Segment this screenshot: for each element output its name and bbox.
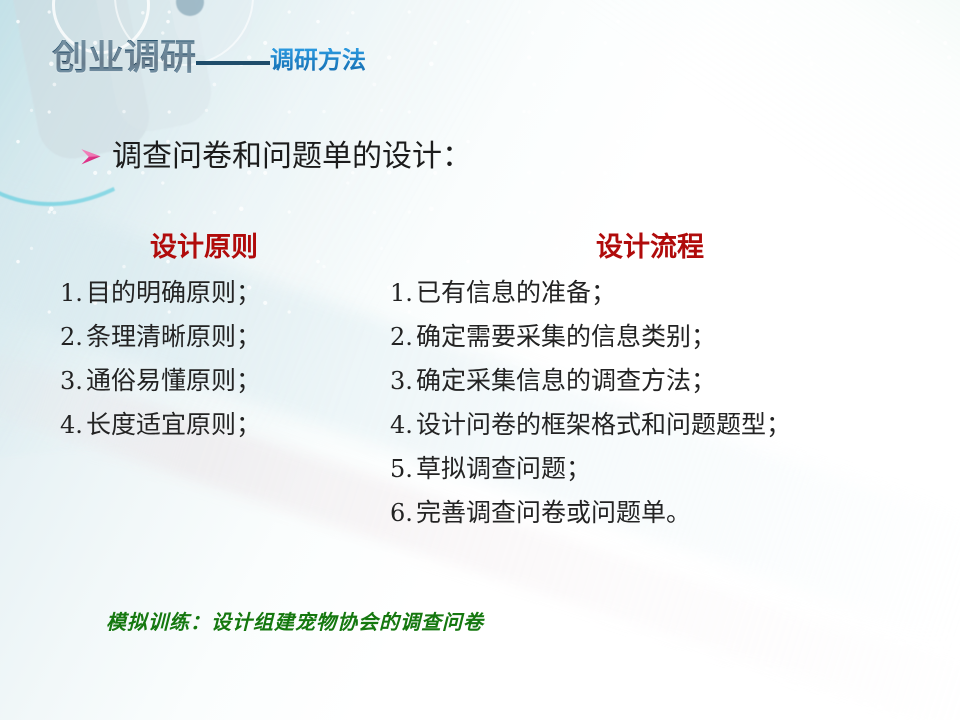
list-item-label: 已有信息的准备； bbox=[416, 280, 616, 305]
list-item: 2. 确定需要采集的信息类别； bbox=[390, 324, 930, 349]
bullet-heading-text: 调查问卷和问题单的设计： bbox=[112, 140, 472, 173]
list-item: 3. 确定采集信息的调查方法； bbox=[390, 368, 930, 393]
list-item-label: 草拟调查问题； bbox=[416, 456, 591, 481]
list-item: 4. 设计问卷的框架格式和问题题型； bbox=[390, 412, 930, 437]
list-item-number: 2. bbox=[60, 325, 86, 349]
list-item-number: 6. bbox=[390, 501, 416, 525]
list-item-number: 2. bbox=[390, 325, 416, 349]
list-item-label: 完善调查问卷或问题单。 bbox=[416, 500, 691, 525]
column-design-principles: 设计原则 1. 目的明确原则； 2. 条理清晰原则； 3. 通俗易懂原则； 4.… bbox=[60, 234, 380, 456]
slide-canvas: 创业调研 调研方法 调查问卷和问题单的设计： 设计原则 1. 目的明确原则； bbox=[0, 0, 960, 720]
list-item-label: 通俗易懂原则； bbox=[86, 368, 261, 393]
list-item-number: 1. bbox=[60, 281, 86, 305]
list-design-process: 1. 已有信息的准备； 2. 确定需要采集的信息类别； 3. 确定采集信息的调查… bbox=[390, 280, 930, 525]
footer-practice-note: 模拟训练：设计组建宠物协会的调查问卷 bbox=[106, 612, 484, 632]
list-item: 6. 完善调查问卷或问题单。 bbox=[390, 500, 930, 525]
list-item-label: 条理清晰原则； bbox=[86, 324, 261, 349]
list-item-number: 3. bbox=[60, 369, 86, 393]
column-heading-design-process: 设计流程 bbox=[390, 234, 930, 261]
list-item-number: 4. bbox=[390, 413, 416, 437]
list-item: 1. 目的明确原则； bbox=[60, 280, 380, 305]
slide-title-main: 创业调研 bbox=[52, 40, 196, 78]
list-item-number: 4. bbox=[60, 413, 86, 437]
list-item-label: 确定采集信息的调查方法； bbox=[416, 368, 716, 393]
list-item-number: 5. bbox=[390, 457, 416, 481]
list-item-number: 3. bbox=[390, 369, 416, 393]
list-design-principles: 1. 目的明确原则； 2. 条理清晰原则； 3. 通俗易懂原则； 4. 长度适宜… bbox=[60, 280, 380, 437]
list-item-number: 1. bbox=[390, 281, 416, 305]
list-item: 5. 草拟调查问题； bbox=[390, 456, 930, 481]
slide-title: 创业调研 调研方法 bbox=[52, 40, 366, 78]
list-item: 1. 已有信息的准备； bbox=[390, 280, 930, 305]
list-item: 4. 长度适宜原则； bbox=[60, 412, 380, 437]
bullet-heading: 调查问卷和问题单的设计： bbox=[78, 140, 472, 173]
slide-title-dash-rule bbox=[196, 61, 270, 65]
list-item-label: 长度适宜原则； bbox=[86, 412, 261, 437]
list-item-label: 设计问卷的框架格式和问题题型； bbox=[416, 412, 791, 437]
list-item: 2. 条理清晰原则； bbox=[60, 324, 380, 349]
list-item-label: 目的明确原则； bbox=[86, 280, 261, 305]
list-item-label: 确定需要采集的信息类别； bbox=[416, 324, 716, 349]
list-item: 3. 通俗易懂原则； bbox=[60, 368, 380, 393]
column-design-process: 设计流程 1. 已有信息的准备； 2. 确定需要采集的信息类别； 3. 确定采集… bbox=[390, 234, 930, 544]
slide-title-subtitle: 调研方法 bbox=[270, 48, 366, 78]
column-heading-design-principles: 设计原则 bbox=[60, 234, 380, 261]
arrow-bullet-icon bbox=[78, 144, 104, 170]
